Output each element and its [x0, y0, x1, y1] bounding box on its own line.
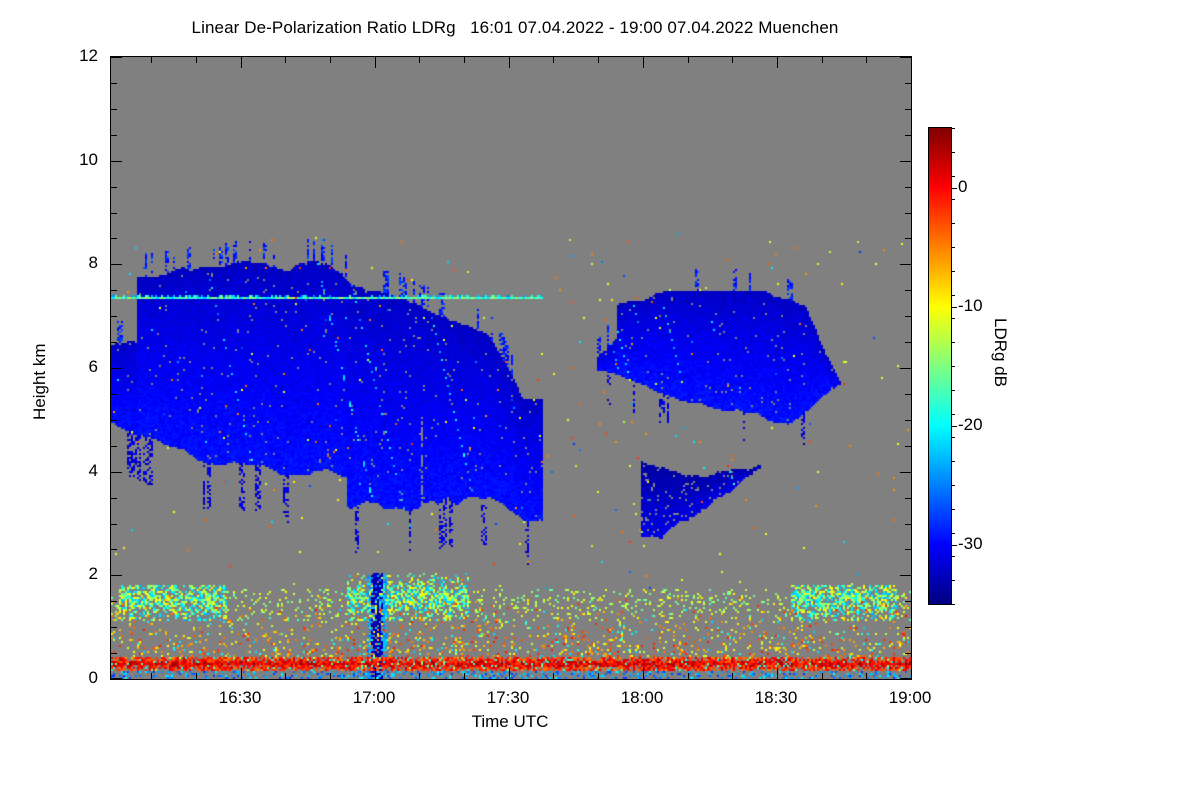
colorbar-minor-tick — [952, 390, 955, 391]
x-minor-tick — [419, 673, 420, 679]
y-tick-label: 4 — [0, 461, 98, 481]
x-major-tick — [777, 57, 778, 68]
x-minor-tick — [688, 673, 689, 679]
y-major-tick — [900, 264, 911, 265]
y-minor-tick — [905, 83, 911, 84]
y-minor-tick — [111, 394, 117, 395]
y-minor-tick — [111, 627, 117, 628]
x-minor-tick — [732, 57, 733, 63]
colorbar-gradient — [929, 128, 951, 604]
x-minor-tick — [866, 57, 867, 63]
y-minor-tick — [905, 187, 911, 188]
y-minor-tick — [905, 420, 911, 421]
y-minor-tick — [111, 290, 117, 291]
y-minor-tick — [905, 524, 911, 525]
y-minor-tick — [111, 498, 117, 499]
x-minor-tick — [688, 57, 689, 63]
x-tick-label: 18:30 — [755, 688, 798, 708]
y-minor-tick — [111, 316, 117, 317]
x-major-tick — [777, 668, 778, 679]
y-minor-tick — [905, 316, 911, 317]
colorbar-minor-tick — [952, 342, 955, 343]
y-major-tick — [900, 575, 911, 576]
colorbar-minor-tick — [952, 318, 955, 319]
x-minor-tick — [330, 57, 331, 63]
y-minor-tick — [905, 627, 911, 628]
colorbar-major-tick — [952, 188, 957, 189]
x-minor-tick — [553, 57, 554, 63]
y-minor-tick — [111, 83, 117, 84]
colorbar-minor-tick — [952, 223, 955, 224]
colorbar-major-tick — [952, 307, 957, 308]
x-major-tick — [375, 57, 376, 68]
y-minor-tick — [905, 446, 911, 447]
plot-area — [110, 56, 912, 680]
y-minor-tick — [905, 213, 911, 214]
y-minor-tick — [111, 342, 117, 343]
heatmap-canvas — [111, 57, 911, 679]
colorbar-tick-label: -30 — [958, 534, 983, 554]
ldr-timeheight-figure: Linear De-Polarization Ratio LDRg 16:01 … — [0, 0, 1200, 800]
y-major-tick — [111, 264, 122, 265]
y-major-tick — [900, 472, 911, 473]
x-minor-tick — [822, 673, 823, 679]
y-minor-tick — [111, 187, 117, 188]
x-tick-label: 19:00 — [889, 688, 932, 708]
y-minor-tick — [905, 394, 911, 395]
x-minor-tick — [553, 673, 554, 679]
y-minor-tick — [111, 238, 117, 239]
colorbar-minor-tick — [952, 485, 955, 486]
x-minor-tick — [419, 57, 420, 63]
colorbar-minor-tick — [952, 604, 955, 605]
y-major-tick — [900, 57, 911, 58]
y-minor-tick — [111, 135, 117, 136]
x-minor-tick — [598, 673, 599, 679]
x-minor-tick — [151, 673, 152, 679]
x-major-tick — [375, 668, 376, 679]
x-major-tick — [241, 57, 242, 68]
x-minor-tick — [151, 57, 152, 63]
x-minor-tick — [822, 57, 823, 63]
y-minor-tick — [111, 109, 117, 110]
colorbar-major-tick — [952, 426, 957, 427]
y-tick-label: 8 — [0, 253, 98, 273]
colorbar — [928, 127, 952, 605]
y-major-tick — [900, 368, 911, 369]
y-minor-tick — [111, 601, 117, 602]
y-minor-tick — [111, 524, 117, 525]
x-minor-tick — [464, 57, 465, 63]
colorbar-tick-label: -20 — [958, 415, 983, 435]
x-tick-label: 17:30 — [487, 688, 530, 708]
y-tick-label: 12 — [0, 46, 98, 66]
x-major-tick — [509, 668, 510, 679]
colorbar-minor-tick — [952, 247, 955, 248]
x-minor-tick — [330, 673, 331, 679]
y-minor-tick — [905, 549, 911, 550]
colorbar-minor-tick — [952, 509, 955, 510]
y-major-tick — [111, 161, 122, 162]
x-major-tick — [241, 668, 242, 679]
y-minor-tick — [905, 135, 911, 136]
x-tick-label: 17:00 — [353, 688, 396, 708]
y-minor-tick — [111, 549, 117, 550]
colorbar-major-tick — [952, 545, 957, 546]
x-major-tick — [911, 668, 912, 679]
x-minor-tick — [464, 673, 465, 679]
y-minor-tick — [111, 653, 117, 654]
colorbar-minor-tick — [952, 414, 955, 415]
y-major-tick — [111, 368, 122, 369]
y-minor-tick — [905, 238, 911, 239]
y-major-tick — [111, 575, 122, 576]
y-major-tick — [900, 678, 911, 679]
colorbar-minor-tick — [952, 199, 955, 200]
y-major-tick — [111, 472, 122, 473]
x-minor-tick — [732, 673, 733, 679]
y-minor-tick — [905, 498, 911, 499]
colorbar-tick-label: 0 — [958, 177, 967, 197]
y-minor-tick — [905, 342, 911, 343]
y-tick-label: 10 — [0, 150, 98, 170]
colorbar-minor-tick — [952, 366, 955, 367]
y-minor-tick — [905, 601, 911, 602]
x-tick-label: 16:30 — [219, 688, 262, 708]
y-minor-tick — [905, 653, 911, 654]
y-minor-tick — [905, 290, 911, 291]
colorbar-minor-tick — [952, 556, 955, 557]
y-major-tick — [111, 678, 122, 679]
colorbar-minor-tick — [952, 295, 955, 296]
x-minor-tick — [196, 57, 197, 63]
y-axis-label: Height km — [30, 343, 50, 420]
x-minor-tick — [285, 673, 286, 679]
x-major-tick — [509, 57, 510, 68]
x-minor-tick — [598, 57, 599, 63]
colorbar-tick-label: -10 — [958, 296, 983, 316]
x-minor-tick — [196, 673, 197, 679]
colorbar-minor-tick — [952, 437, 955, 438]
x-major-tick — [643, 668, 644, 679]
y-minor-tick — [905, 109, 911, 110]
y-major-tick — [900, 161, 911, 162]
x-minor-tick — [866, 673, 867, 679]
y-tick-label: 0 — [0, 668, 98, 688]
colorbar-minor-tick — [952, 461, 955, 462]
colorbar-label: LDRg dB — [990, 318, 1010, 387]
y-minor-tick — [111, 213, 117, 214]
x-minor-tick — [285, 57, 286, 63]
x-major-tick — [911, 57, 912, 68]
y-major-tick — [111, 57, 122, 58]
x-axis-label: Time UTC — [472, 712, 549, 732]
colorbar-minor-tick — [952, 152, 955, 153]
colorbar-minor-tick — [952, 271, 955, 272]
colorbar-minor-tick — [952, 533, 955, 534]
y-minor-tick — [111, 446, 117, 447]
x-major-tick — [643, 57, 644, 68]
colorbar-minor-tick — [952, 128, 955, 129]
y-tick-label: 2 — [0, 564, 98, 584]
page-title: Linear De-Polarization Ratio LDRg 16:01 … — [0, 18, 1030, 38]
colorbar-minor-tick — [952, 580, 955, 581]
x-tick-label: 18:00 — [621, 688, 664, 708]
y-minor-tick — [111, 420, 117, 421]
colorbar-minor-tick — [952, 176, 955, 177]
